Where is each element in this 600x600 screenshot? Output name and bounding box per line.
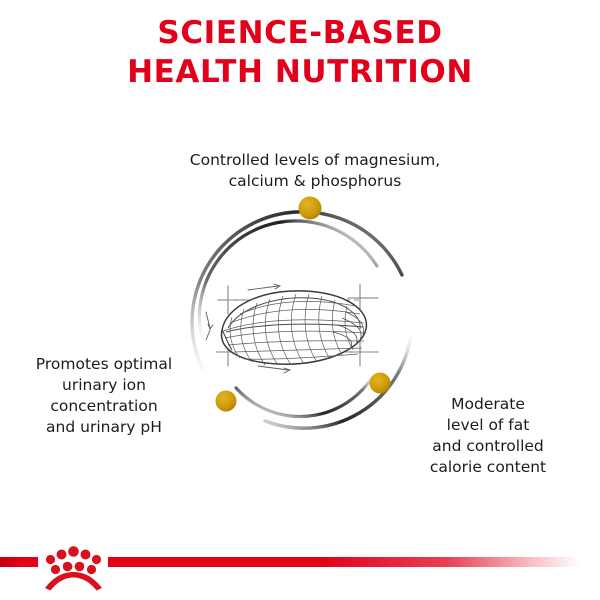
- footer-bar-right: [108, 557, 580, 567]
- kibble-body: [222, 291, 367, 365]
- callout-urinary: Promotes optimal urinary ion concentrati…: [14, 354, 194, 438]
- kibble-diagram: [170, 190, 420, 440]
- promo-panel: SCIENCE-BASED HEALTH NUTRITION Controlle…: [0, 0, 600, 600]
- footer-bar-left: [0, 557, 38, 567]
- callout-magnesium: Controlled levels of magnesium, calcium …: [150, 150, 480, 192]
- callout-fat-calorie-line-2: level of fat: [398, 415, 578, 436]
- callout-magnesium-line-1: Controlled levels of magnesium,: [150, 150, 480, 171]
- title-line-2: HEALTH NUTRITION: [0, 53, 600, 92]
- callout-urinary-line-2: urinary ion: [14, 375, 194, 396]
- callout-urinary-line-3: concentration: [14, 396, 194, 417]
- callout-fat-calorie-line-3: and controlled: [398, 436, 578, 457]
- brand-footer: [0, 540, 600, 600]
- callout-fat-calorie: Moderate level of fat and controlled cal…: [398, 394, 578, 478]
- benefit-dot-bottom-right[interactable]: [370, 373, 391, 394]
- royal-canin-crown-logo: [45, 546, 102, 590]
- benefit-dot-bottom-left[interactable]: [216, 391, 237, 412]
- callout-fat-calorie-line-1: Moderate: [398, 394, 578, 415]
- callout-magnesium-line-2: calcium & phosphorus: [150, 171, 480, 192]
- page-title: SCIENCE-BASED HEALTH NUTRITION: [0, 14, 600, 92]
- callout-fat-calorie-line-4: calorie content: [398, 457, 578, 478]
- callout-urinary-line-1: Promotes optimal: [14, 354, 194, 375]
- callout-urinary-line-4: and urinary pH: [14, 417, 194, 438]
- title-line-1: SCIENCE-BASED: [0, 14, 600, 53]
- benefit-dot-top[interactable]: [299, 197, 322, 220]
- kibble-illustration: [206, 284, 378, 373]
